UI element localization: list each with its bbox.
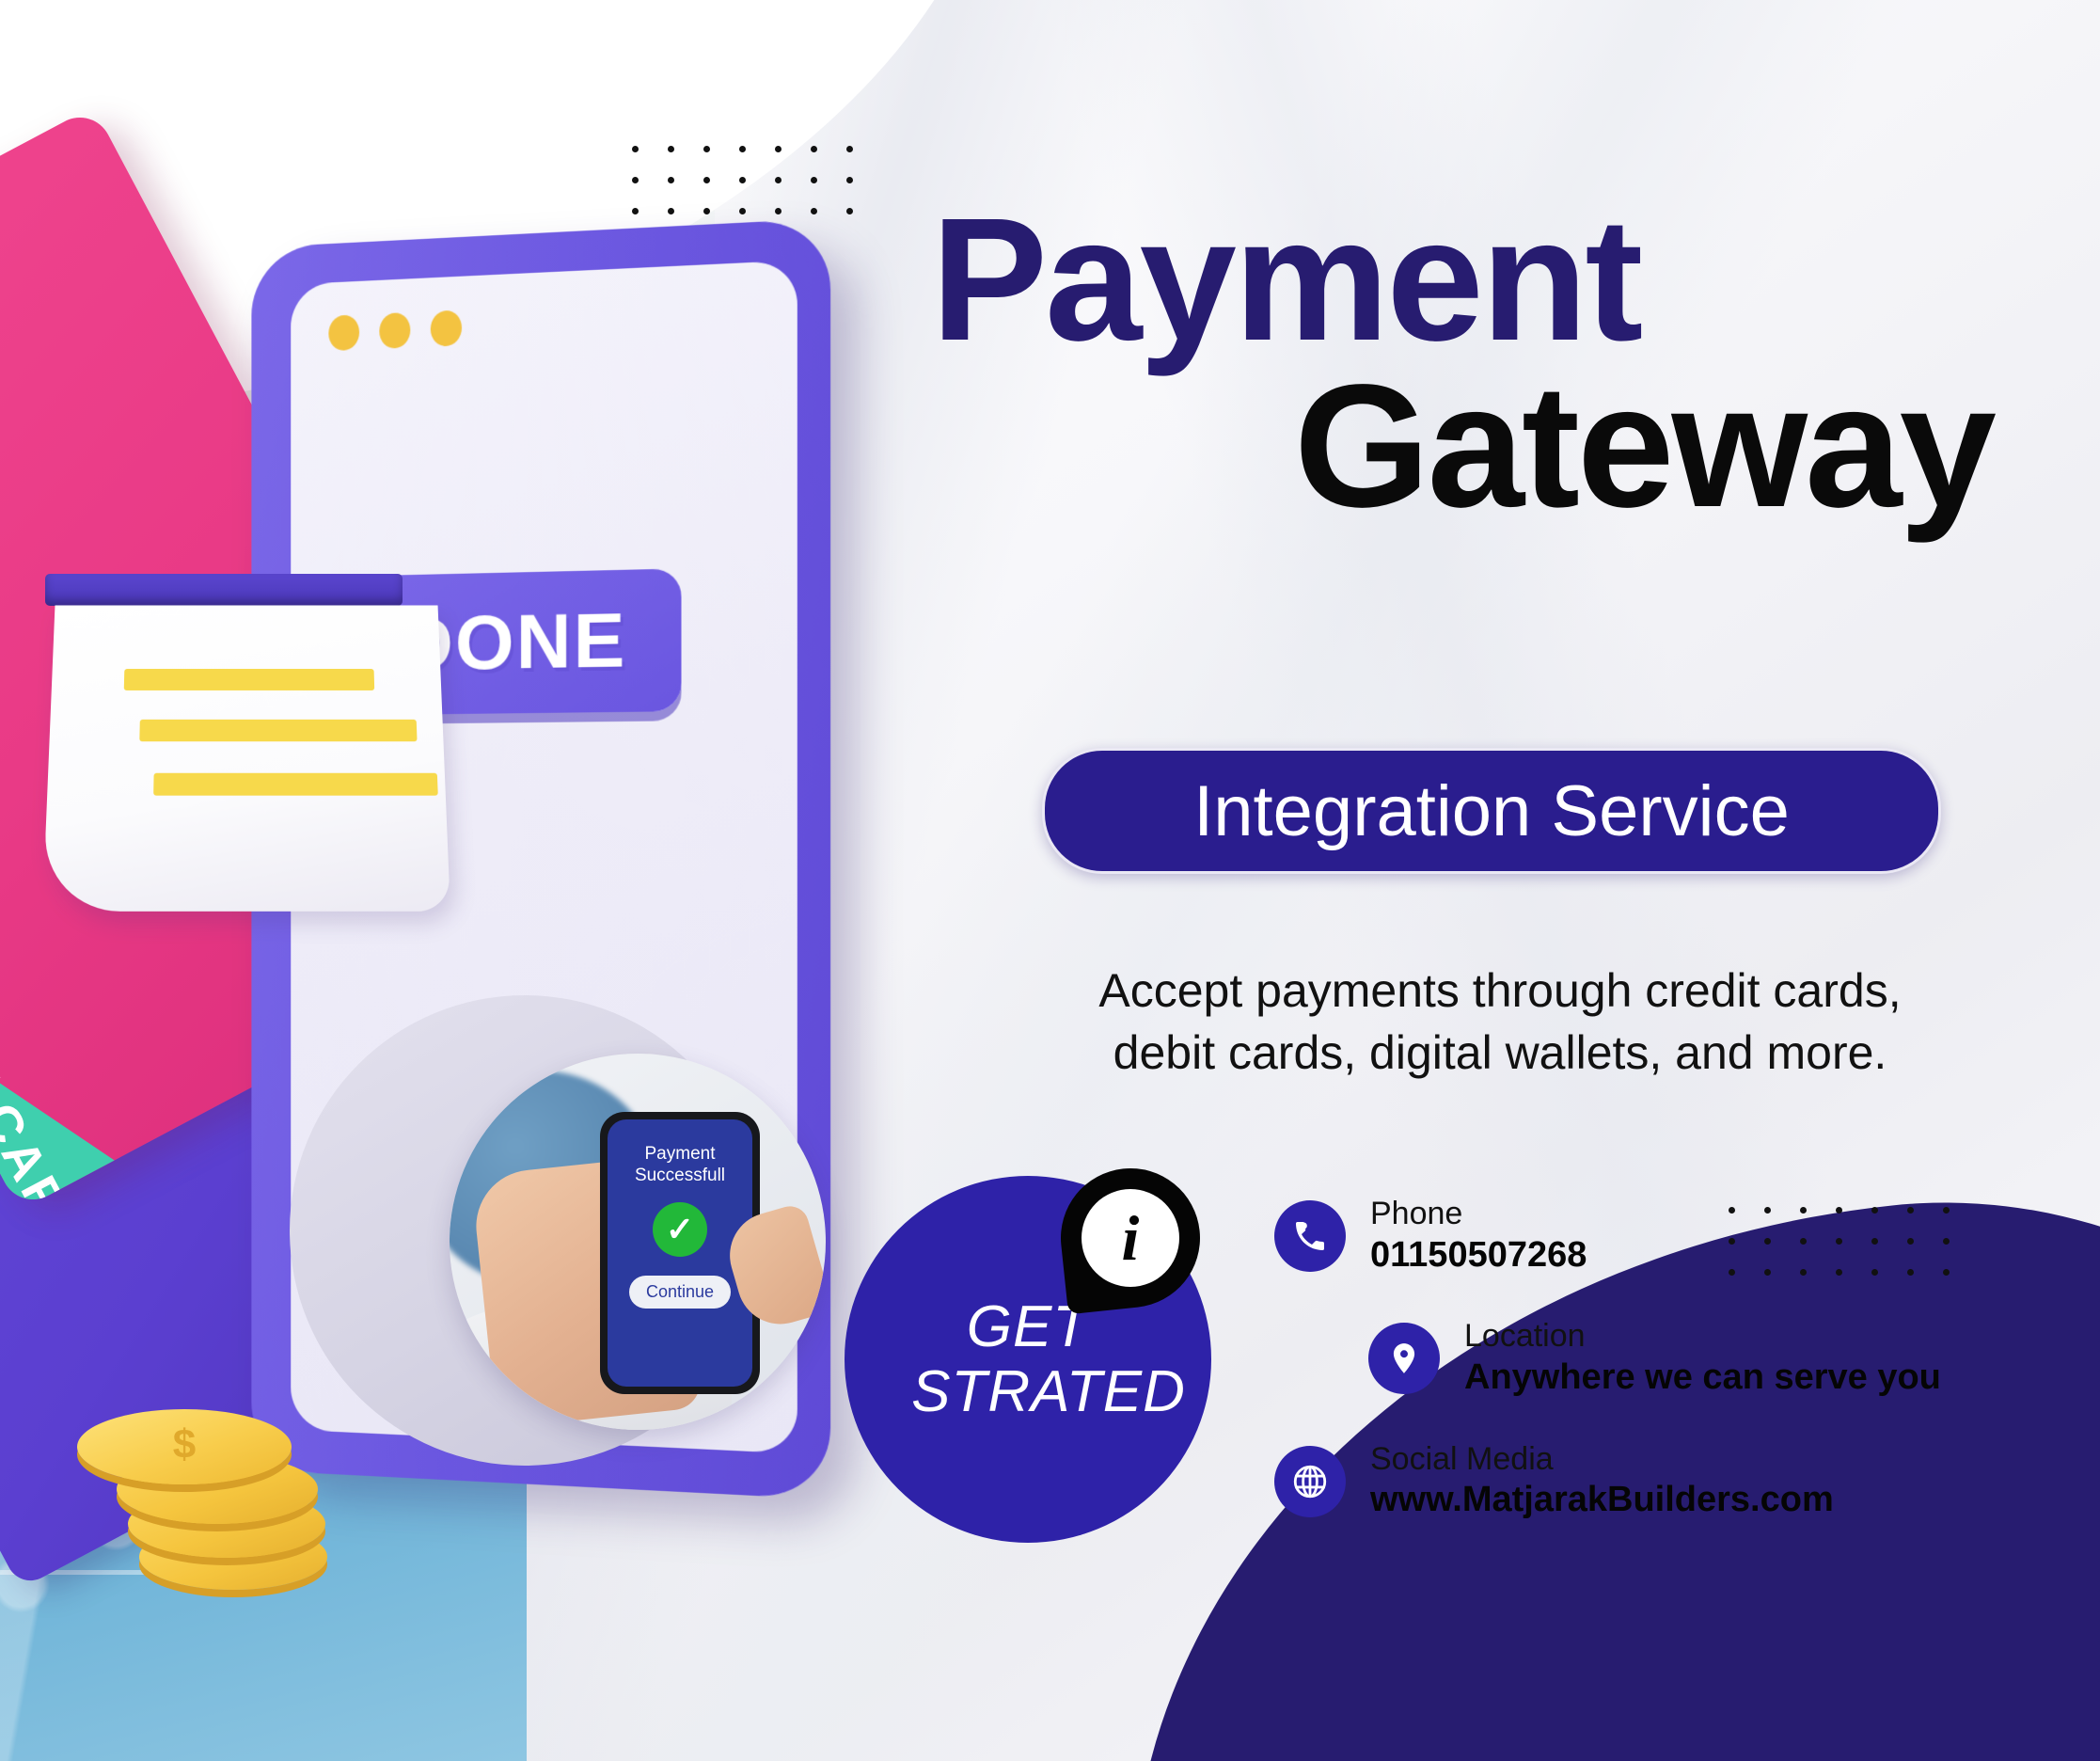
check-glyph: ✓ (666, 1210, 694, 1249)
contact-row-phone[interactable]: Phone 01150507268 (1274, 1195, 1951, 1277)
contact-text-location: Location Anywhere we can serve you (1464, 1317, 1941, 1400)
dollar-sign-icon: $ (173, 1421, 196, 1468)
dot-grid-top (632, 146, 853, 214)
coin-1: $ (77, 1409, 292, 1484)
contact-value-social: www.MatjarakBuilders.com (1370, 1478, 1834, 1523)
globe-icon (1274, 1446, 1346, 1517)
photo-title-line1: Payment (645, 1144, 716, 1166)
success-check-icon: ✓ (653, 1202, 707, 1257)
receipt-line-3 (153, 773, 438, 796)
get-started-line-2: STRATED (870, 1359, 1186, 1424)
contact-label-social: Social Media (1370, 1440, 1834, 1479)
receipt-line-2 (139, 720, 417, 741)
phone-icon (1274, 1200, 1346, 1272)
page-title: Payment Gateway (931, 198, 1994, 530)
location-pin-icon (1368, 1323, 1440, 1394)
headline-line-2: Gateway (931, 364, 1994, 531)
contact-row-social[interactable]: Social Media www.MatjarakBuilders.com (1274, 1440, 1951, 1523)
info-glyph: i (1122, 1201, 1140, 1276)
contact-label-location: Location (1464, 1317, 1941, 1356)
window-dots (328, 309, 462, 351)
info-bubble-inner: i (1082, 1189, 1179, 1287)
payment-gateway-poster: CREDIT CARD DONE Payment Successfull (0, 0, 2100, 1761)
contact-value-location: Anywhere we can serve you (1464, 1356, 1941, 1401)
integration-service-label: Integration Service (1193, 770, 1790, 852)
window-dot-2 (379, 312, 410, 349)
contact-text-social: Social Media www.MatjarakBuilders.com (1370, 1440, 1834, 1523)
photo-title-line2: Successfull (635, 1166, 725, 1187)
window-dot-3 (431, 309, 462, 346)
contact-list: Phone 01150507268 Location Anywhere we c… (1274, 1195, 1951, 1563)
contact-text-phone: Phone 01150507268 (1370, 1195, 1587, 1277)
receipt-paper (42, 606, 450, 912)
photo-continue-button[interactable]: Continue (629, 1276, 731, 1309)
integration-service-pill: Integration Service (1042, 748, 1941, 874)
subtitle-text: Accept payments through credit cards, de… (1053, 960, 1947, 1084)
window-dot-1 (328, 314, 359, 351)
contact-row-location[interactable]: Location Anywhere we can serve you (1368, 1317, 1951, 1400)
receipt-slot (45, 574, 403, 606)
payment-photo-inset: Payment Successfull ✓ Continue (450, 1054, 826, 1430)
coin-stack: $ (77, 1409, 350, 1635)
headline-line-1: Payment (931, 198, 1994, 364)
contact-value-phone: 01150507268 (1370, 1233, 1587, 1278)
contact-label-phone: Phone (1370, 1195, 1587, 1233)
receipt-line-1 (124, 669, 374, 690)
